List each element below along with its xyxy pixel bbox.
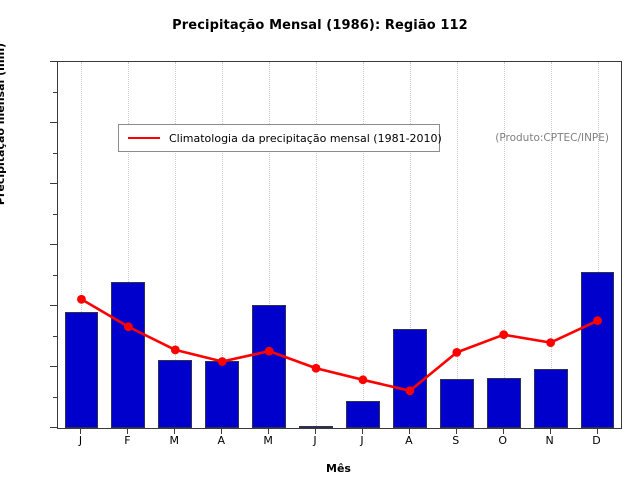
chart-legend: Climatologia da precipitação mensal (198… [118, 124, 440, 152]
source-annotation: (Produto:CPTEC/INPE) [495, 132, 609, 144]
x-tick-label-10: N [530, 434, 570, 447]
climatology-marker-a-7 [405, 386, 414, 395]
x-tick-label-9: O [483, 434, 523, 447]
x-tick-label-2: M [154, 434, 194, 447]
climatology-marker-m-2 [171, 346, 180, 355]
legend-line-swatch [128, 137, 160, 139]
y-tick-mark [50, 305, 57, 306]
climatology-marker-j-5 [312, 364, 321, 373]
climatology-marker-j-0 [77, 295, 86, 304]
x-tick-label-8: S [436, 434, 476, 447]
legend-item-label: Climatologia da precipitação mensal (198… [169, 132, 442, 145]
plot-area: Climatologia da precipitação mensal (198… [57, 61, 622, 429]
x-tick-label-4: M [248, 434, 288, 447]
climatology-marker-j-6 [359, 375, 368, 384]
chart-figure: Precipitação Mensal (1986): Região 112 P… [0, 0, 640, 500]
climatology-marker-a-3 [218, 357, 227, 366]
y-tick-mark [50, 366, 57, 367]
climatology-marker-m-4 [265, 347, 274, 356]
y-tick-mark [50, 122, 57, 123]
chart-title: Precipitação Mensal (1986): Região 112 [0, 18, 640, 33]
y-tick-mark [50, 183, 57, 184]
climatology-marker-d-11 [593, 316, 602, 325]
x-tick-label-7: A [389, 434, 429, 447]
x-tick-label-6: J [342, 434, 382, 447]
climatology-line [81, 299, 597, 391]
x-tick-label-0: J [60, 434, 100, 447]
line-series-layer [58, 62, 621, 428]
y-tick-mark [50, 244, 57, 245]
x-axis-label: Mês [57, 462, 620, 475]
x-tick-label-11: D [577, 434, 617, 447]
y-axis-label: Precipitação mensal (mm) [0, 4, 7, 244]
climatology-marker-s-8 [452, 348, 461, 357]
climatology-marker-f-1 [124, 322, 133, 331]
x-tick-label-5: J [295, 434, 335, 447]
y-tick-mark [50, 61, 57, 62]
climatology-marker-n-10 [546, 338, 555, 347]
climatology-marker-o-9 [499, 330, 508, 339]
x-tick-label-3: A [201, 434, 241, 447]
y-tick-mark [50, 427, 57, 428]
x-tick-label-1: F [107, 434, 147, 447]
